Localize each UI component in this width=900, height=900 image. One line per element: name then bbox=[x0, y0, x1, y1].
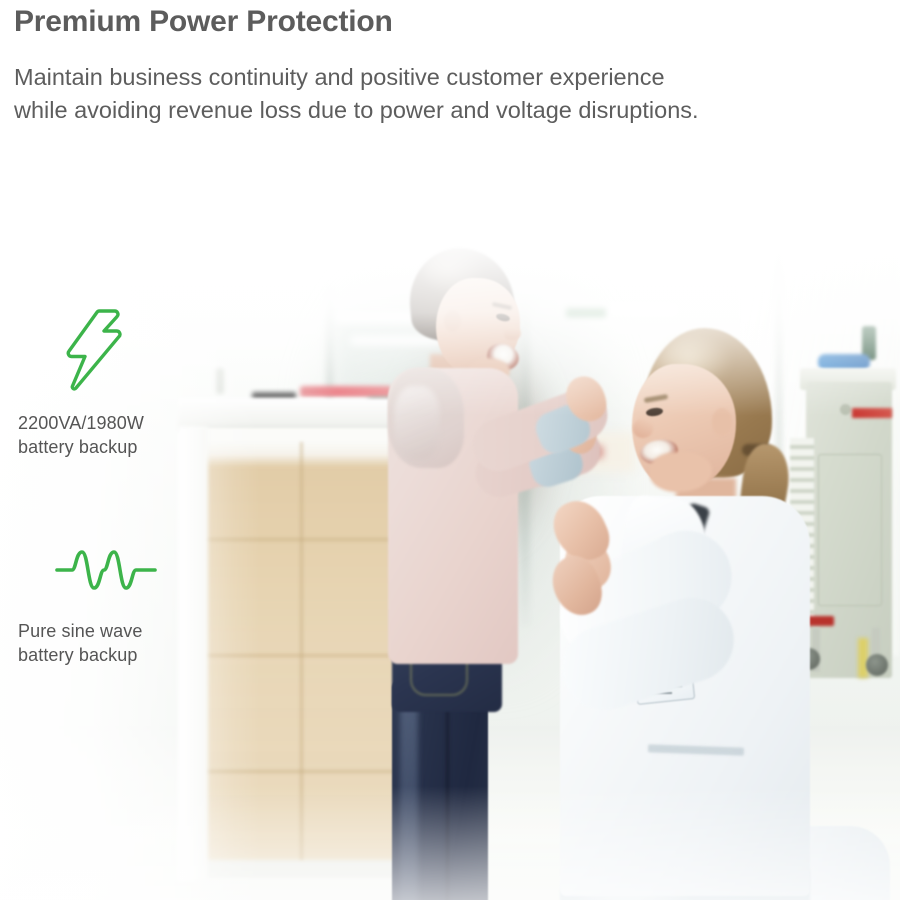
doctor-ear bbox=[712, 408, 732, 436]
feature-pure-sine-wave-label: Pure sine wave battery backup bbox=[18, 619, 158, 668]
sine-wave-icon bbox=[54, 548, 158, 597]
doctor-nose bbox=[633, 418, 653, 438]
page-subtitle: Maintain business continuity and positiv… bbox=[14, 41, 704, 128]
boy-ear bbox=[444, 310, 461, 332]
hero-photo bbox=[0, 186, 900, 900]
page-title: Premium Power Protection bbox=[14, 0, 734, 41]
boy-hood-fold bbox=[394, 386, 440, 460]
feature-battery-backup-label: 2200VA/1980W battery backup bbox=[18, 411, 144, 460]
marketing-infographic-page: Premium Power Protection Maintain busine… bbox=[0, 0, 900, 900]
boy-nose bbox=[504, 326, 521, 340]
feature-pure-sine-wave: Pure sine wave battery backup bbox=[18, 548, 158, 668]
corridor-sign-green bbox=[566, 308, 606, 317]
right-wall-edge bbox=[776, 186, 782, 486]
lightning-bolt-icon bbox=[62, 308, 144, 397]
cart-brand-mark bbox=[852, 408, 892, 418]
desk-bottle bbox=[216, 368, 224, 394]
desk-red-object bbox=[300, 386, 392, 397]
cart-door-panel bbox=[818, 454, 882, 606]
cart-yellow-item bbox=[858, 638, 868, 678]
header-text-block: Premium Power Protection Maintain busine… bbox=[14, 0, 734, 127]
hero-photo-scene bbox=[0, 186, 900, 900]
cart-knob bbox=[840, 404, 851, 415]
feature-battery-backup: 2200VA/1980W battery backup bbox=[18, 308, 144, 460]
cart-caster-right bbox=[866, 654, 888, 676]
floor-reflection-sheen bbox=[0, 786, 900, 900]
